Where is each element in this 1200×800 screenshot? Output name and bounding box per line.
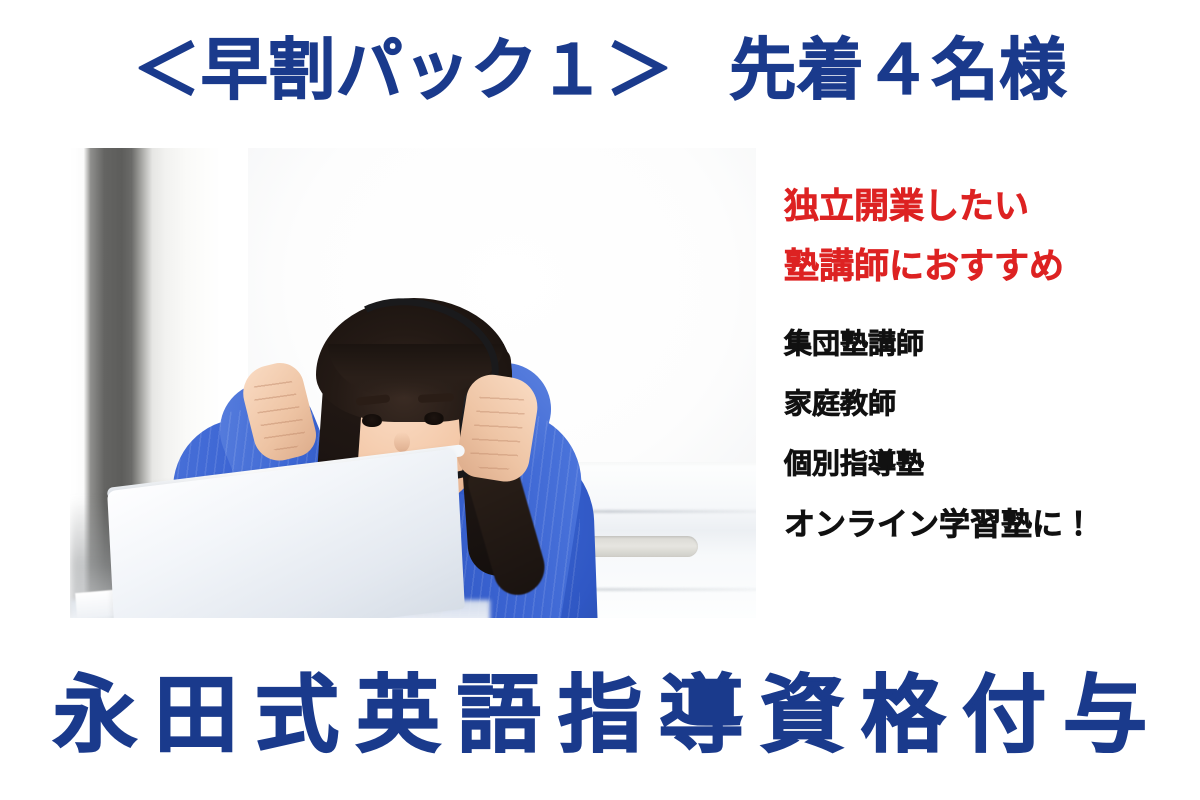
eye-left — [362, 414, 382, 427]
bottom-banner: 永田式英語指導資格付与 — [0, 660, 1200, 770]
list-item: 家庭教師 — [784, 390, 1188, 418]
side-copy: 独立開業したい 塾講師におすすめ 集団塾講師 家庭教師 個別指導塾 オンライン学… — [784, 190, 1188, 541]
target-audience-list: 集団塾講師 家庭教師 個別指導塾 オンライン学習塾に！ — [784, 330, 1188, 541]
list-item: 集団塾講師 — [784, 330, 1188, 358]
list-item: 個別指導塾 — [784, 450, 1188, 478]
poster-canvas: ＜早割パック１＞ 先着４名様 — [0, 0, 1200, 800]
list-item: オンライン学習塾に！ — [784, 510, 1188, 541]
hero-photo — [70, 148, 756, 618]
nose — [394, 432, 410, 452]
header-row: ＜早割パック１＞ 先着４名様 — [0, 22, 1200, 118]
headline-line-1: 独立開業したい — [784, 190, 1188, 225]
limit-label: 先着４名様 — [729, 37, 1067, 104]
pack-label: ＜早割パック１＞ — [133, 37, 673, 104]
headline-line-2: 塾講師におすすめ — [784, 250, 1188, 285]
banner-title: 永田式英語指導資格付与 — [36, 673, 1164, 757]
